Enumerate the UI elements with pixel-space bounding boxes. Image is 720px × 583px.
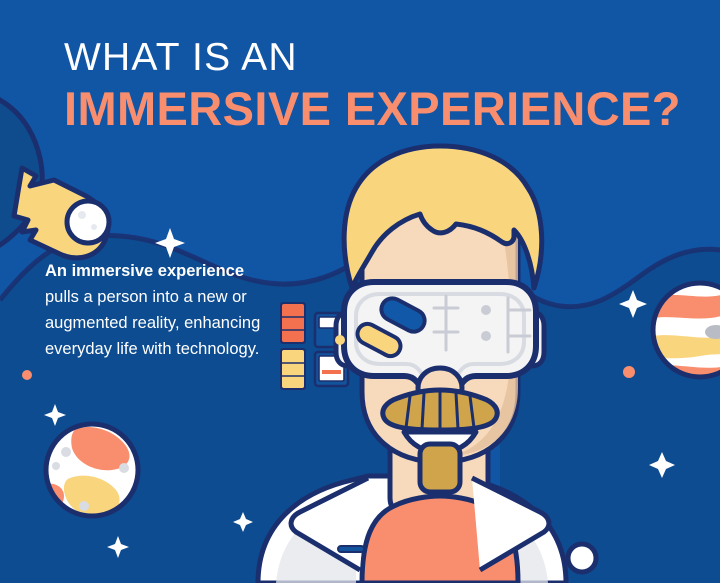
- person-goatee: [420, 444, 460, 492]
- person-mustache: [383, 390, 497, 430]
- ui-card-coral: [280, 302, 306, 344]
- planet-cratered-icon: [46, 424, 138, 517]
- description-paragraph: An immersive experience pulls a person i…: [45, 258, 280, 362]
- infographic-header: WHAT IS AN IMMERSIVE EXPERIENCE? An imme…: [0, 0, 720, 583]
- description-rest: pulls a person into a new or augmented r…: [45, 288, 260, 358]
- description-lead: An immersive experience: [45, 262, 244, 280]
- ui-card-yellow: [280, 348, 306, 390]
